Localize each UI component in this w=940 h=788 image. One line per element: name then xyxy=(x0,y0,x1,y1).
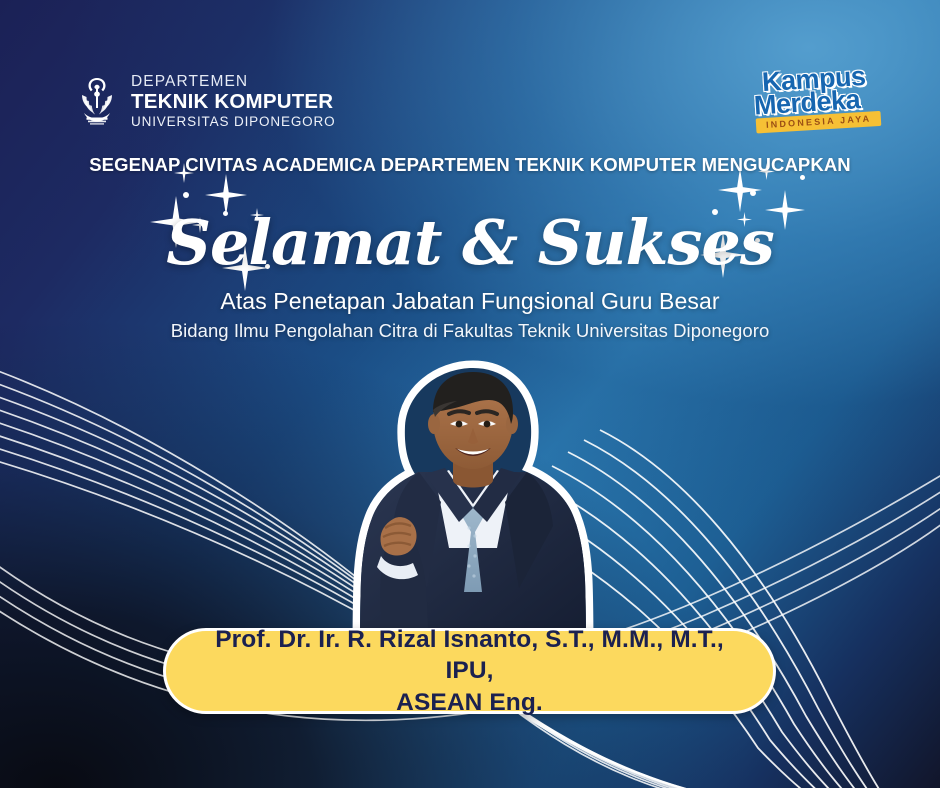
professor-portrait-photo xyxy=(333,360,613,660)
subtitle-line-2: Bidang Ilmu Pengolahan Citra di Fakultas… xyxy=(0,320,940,342)
logo-line-universitas: UNIVERSITAS DIPONEGORO xyxy=(131,115,335,129)
name-banner-text: Prof. Dr. Ir. R. Rizal Isnanto, S.T., M.… xyxy=(166,624,773,718)
headline-text: SEGENAP CIVITAS ACADEMICA DEPARTEMEN TEK… xyxy=(0,152,940,178)
name-banner: Prof. Dr. Ir. R. Rizal Isnanto, S.T., M.… xyxy=(163,628,776,714)
name-line-2: ASEAN Eng. xyxy=(396,689,543,716)
congratulations-poster: DEPARTEMEN TEKNIK KOMPUTER UNIVERSITAS D… xyxy=(0,0,940,788)
sparkle-dot-icon xyxy=(183,192,189,198)
script-title: Selamat & Sukses xyxy=(0,206,940,279)
name-line-1: Prof. Dr. Ir. R. Rizal Isnanto, S.T., M.… xyxy=(215,626,724,684)
undip-crest-icon xyxy=(74,75,120,127)
sparkle-dot-icon xyxy=(750,190,756,196)
kampus-merdeka-logo-icon: Kampus Merdeka INDONESIA JAYA xyxy=(748,66,880,132)
logo-line-departemen: DEPARTEMEN xyxy=(131,74,335,90)
subtitle-line-1: Atas Penetapan Jabatan Fungsional Guru B… xyxy=(0,288,940,315)
logo-line-teknik-komputer: TEKNIK KOMPUTER xyxy=(131,92,335,113)
department-logo-block: DEPARTEMEN TEKNIK KOMPUTER UNIVERSITAS D… xyxy=(74,74,335,129)
